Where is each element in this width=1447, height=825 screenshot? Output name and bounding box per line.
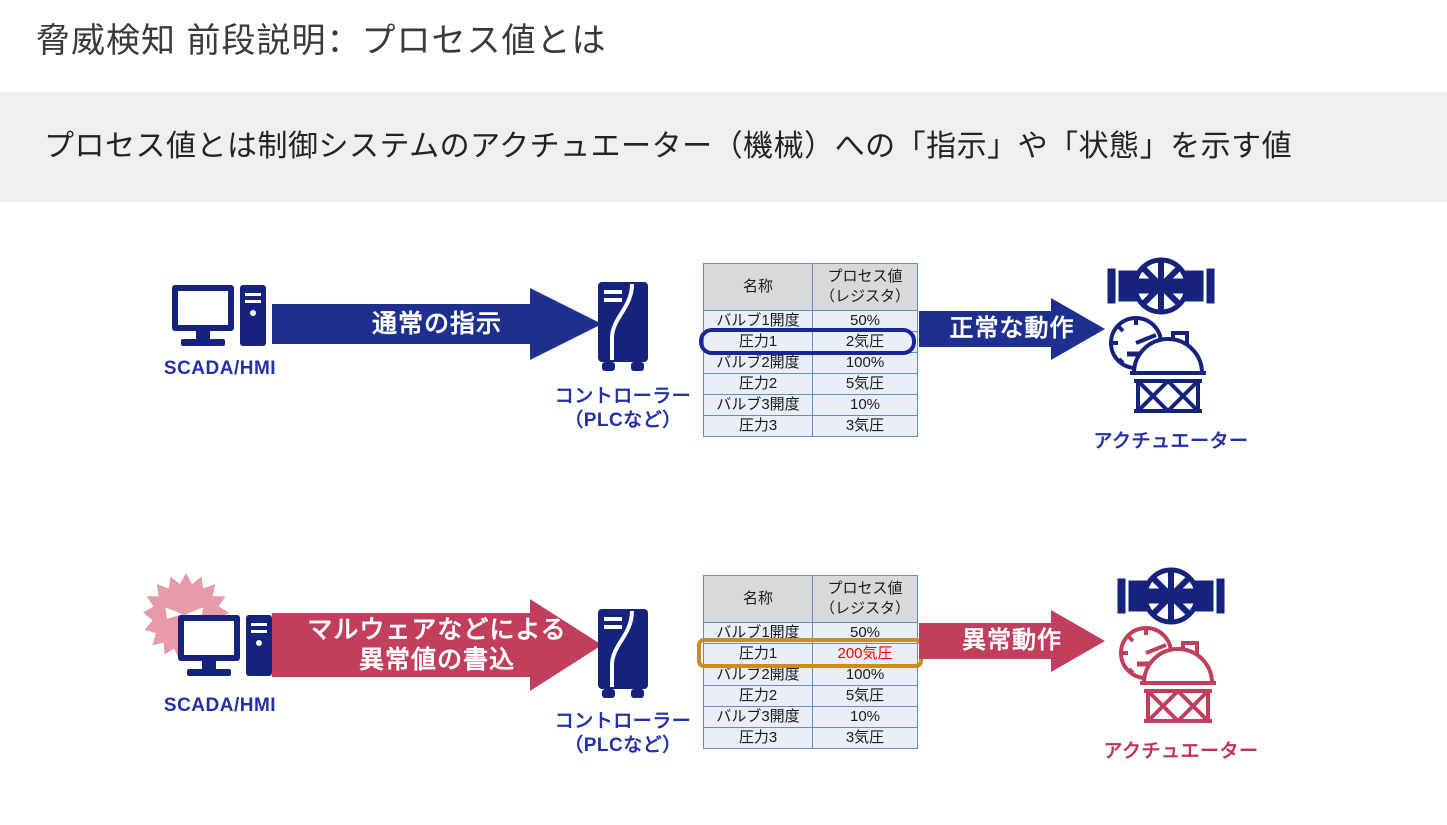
highlight-abnormal-pressure-row (697, 638, 923, 668)
monitor-neck (202, 661, 216, 669)
highlight-normal-pressure-row (699, 328, 916, 355)
table-row: バルブ3開度 10% (704, 395, 918, 416)
cell-name: バルブ3開度 (704, 395, 813, 416)
header-value-line2: （レジスタ） (813, 287, 917, 307)
subtitle-band: プロセス値とは制御システムのアクチュエーター（機械）への「指示」や「状態」を示す… (0, 92, 1447, 202)
table-row: バルブ3開度 10% (704, 707, 918, 728)
table-row: 圧力3 3気圧 (704, 416, 918, 437)
cell-value: 3気圧 (813, 416, 918, 437)
monitor-base (187, 669, 231, 676)
scada-hmi-label: SCADA/HMI (105, 694, 335, 718)
header-value-line2: （レジスタ） (813, 599, 917, 619)
cell-name: 圧力3 (704, 416, 813, 437)
table-row: 圧力2 5気圧 (704, 686, 918, 707)
cell-name: 圧力2 (704, 686, 813, 707)
table-header-row: 名称 プロセス値 （レジスタ） (704, 576, 918, 623)
table-row: バルブ2開度 100% (704, 353, 918, 374)
cell-name: 圧力2 (704, 374, 813, 395)
actuator-icon-abnormal (1100, 567, 1242, 727)
header-value-line1: プロセス値 (813, 267, 917, 287)
scada-hmi-computer-icon (178, 615, 274, 681)
cell-name: バルブ2開度 (704, 353, 813, 374)
tower-slot-1 (245, 293, 261, 296)
abnormal-result-arrow: 異常動作 (919, 610, 1105, 672)
normal-command-arrow: 通常の指示 (272, 288, 602, 360)
attack-flow-row: SCADA/HMI マルウェアなどによる 異常値の書込 コントローラー （PLC… (0, 555, 1447, 825)
controller-plc-icon (592, 609, 654, 703)
actuator-icon-normal (1090, 257, 1232, 417)
tower-slot-2 (251, 630, 267, 633)
normal-result-arrow: 正常な動作 (919, 298, 1105, 360)
header-name: 名称 (704, 264, 813, 311)
cell-name: 圧力3 (704, 728, 813, 749)
monitor-screen-icon (178, 615, 240, 661)
actuator-label-abnormal: アクチュエーター (1071, 740, 1291, 764)
scada-hmi-label: SCADA/HMI (110, 357, 330, 381)
actuator-label-normal: アクチュエーター (1061, 430, 1281, 454)
cell-value: 100% (813, 353, 918, 374)
tower-slot-2 (245, 300, 261, 303)
table-row: 圧力3 3気圧 (704, 728, 918, 749)
header-value: プロセス値 （レジスタ） (813, 264, 918, 311)
header-value-line1: プロセス値 (813, 579, 917, 599)
tower-power-dot (250, 310, 256, 316)
malicious-write-arrow: マルウェアなどによる 異常値の書込 (272, 599, 602, 691)
cell-value: 10% (813, 395, 918, 416)
table-header-row: 名称 プロセス値 （レジスタ） (704, 264, 918, 311)
monitor-base (181, 339, 225, 346)
cell-name: バルブ3開度 (704, 707, 813, 728)
monitor-screen-icon (172, 285, 234, 331)
table-row: 圧力2 5気圧 (704, 374, 918, 395)
cell-value: 5気圧 (813, 686, 918, 707)
controller-plc-icon (592, 282, 654, 376)
header-name: 名称 (704, 576, 813, 623)
normal-flow-row: SCADA/HMI 通常の指示 コントローラー （PLCなど） 名称 プロセス値… (0, 245, 1447, 515)
tower-power-dot (256, 640, 262, 646)
scada-hmi-computer-icon (172, 285, 268, 351)
monitor-neck (196, 331, 210, 339)
subtitle-text: プロセス値とは制御システムのアクチュエーター（機械）への「指示」や「状態」を示す… (44, 92, 1292, 202)
page-title: 脅威検知 前段説明：プロセス値とは (36, 12, 1336, 70)
header-value: プロセス値 （レジスタ） (813, 576, 918, 623)
cell-value: 3気圧 (813, 728, 918, 749)
cell-value: 5気圧 (813, 374, 918, 395)
cell-value: 10% (813, 707, 918, 728)
tower-slot-1 (251, 623, 267, 626)
